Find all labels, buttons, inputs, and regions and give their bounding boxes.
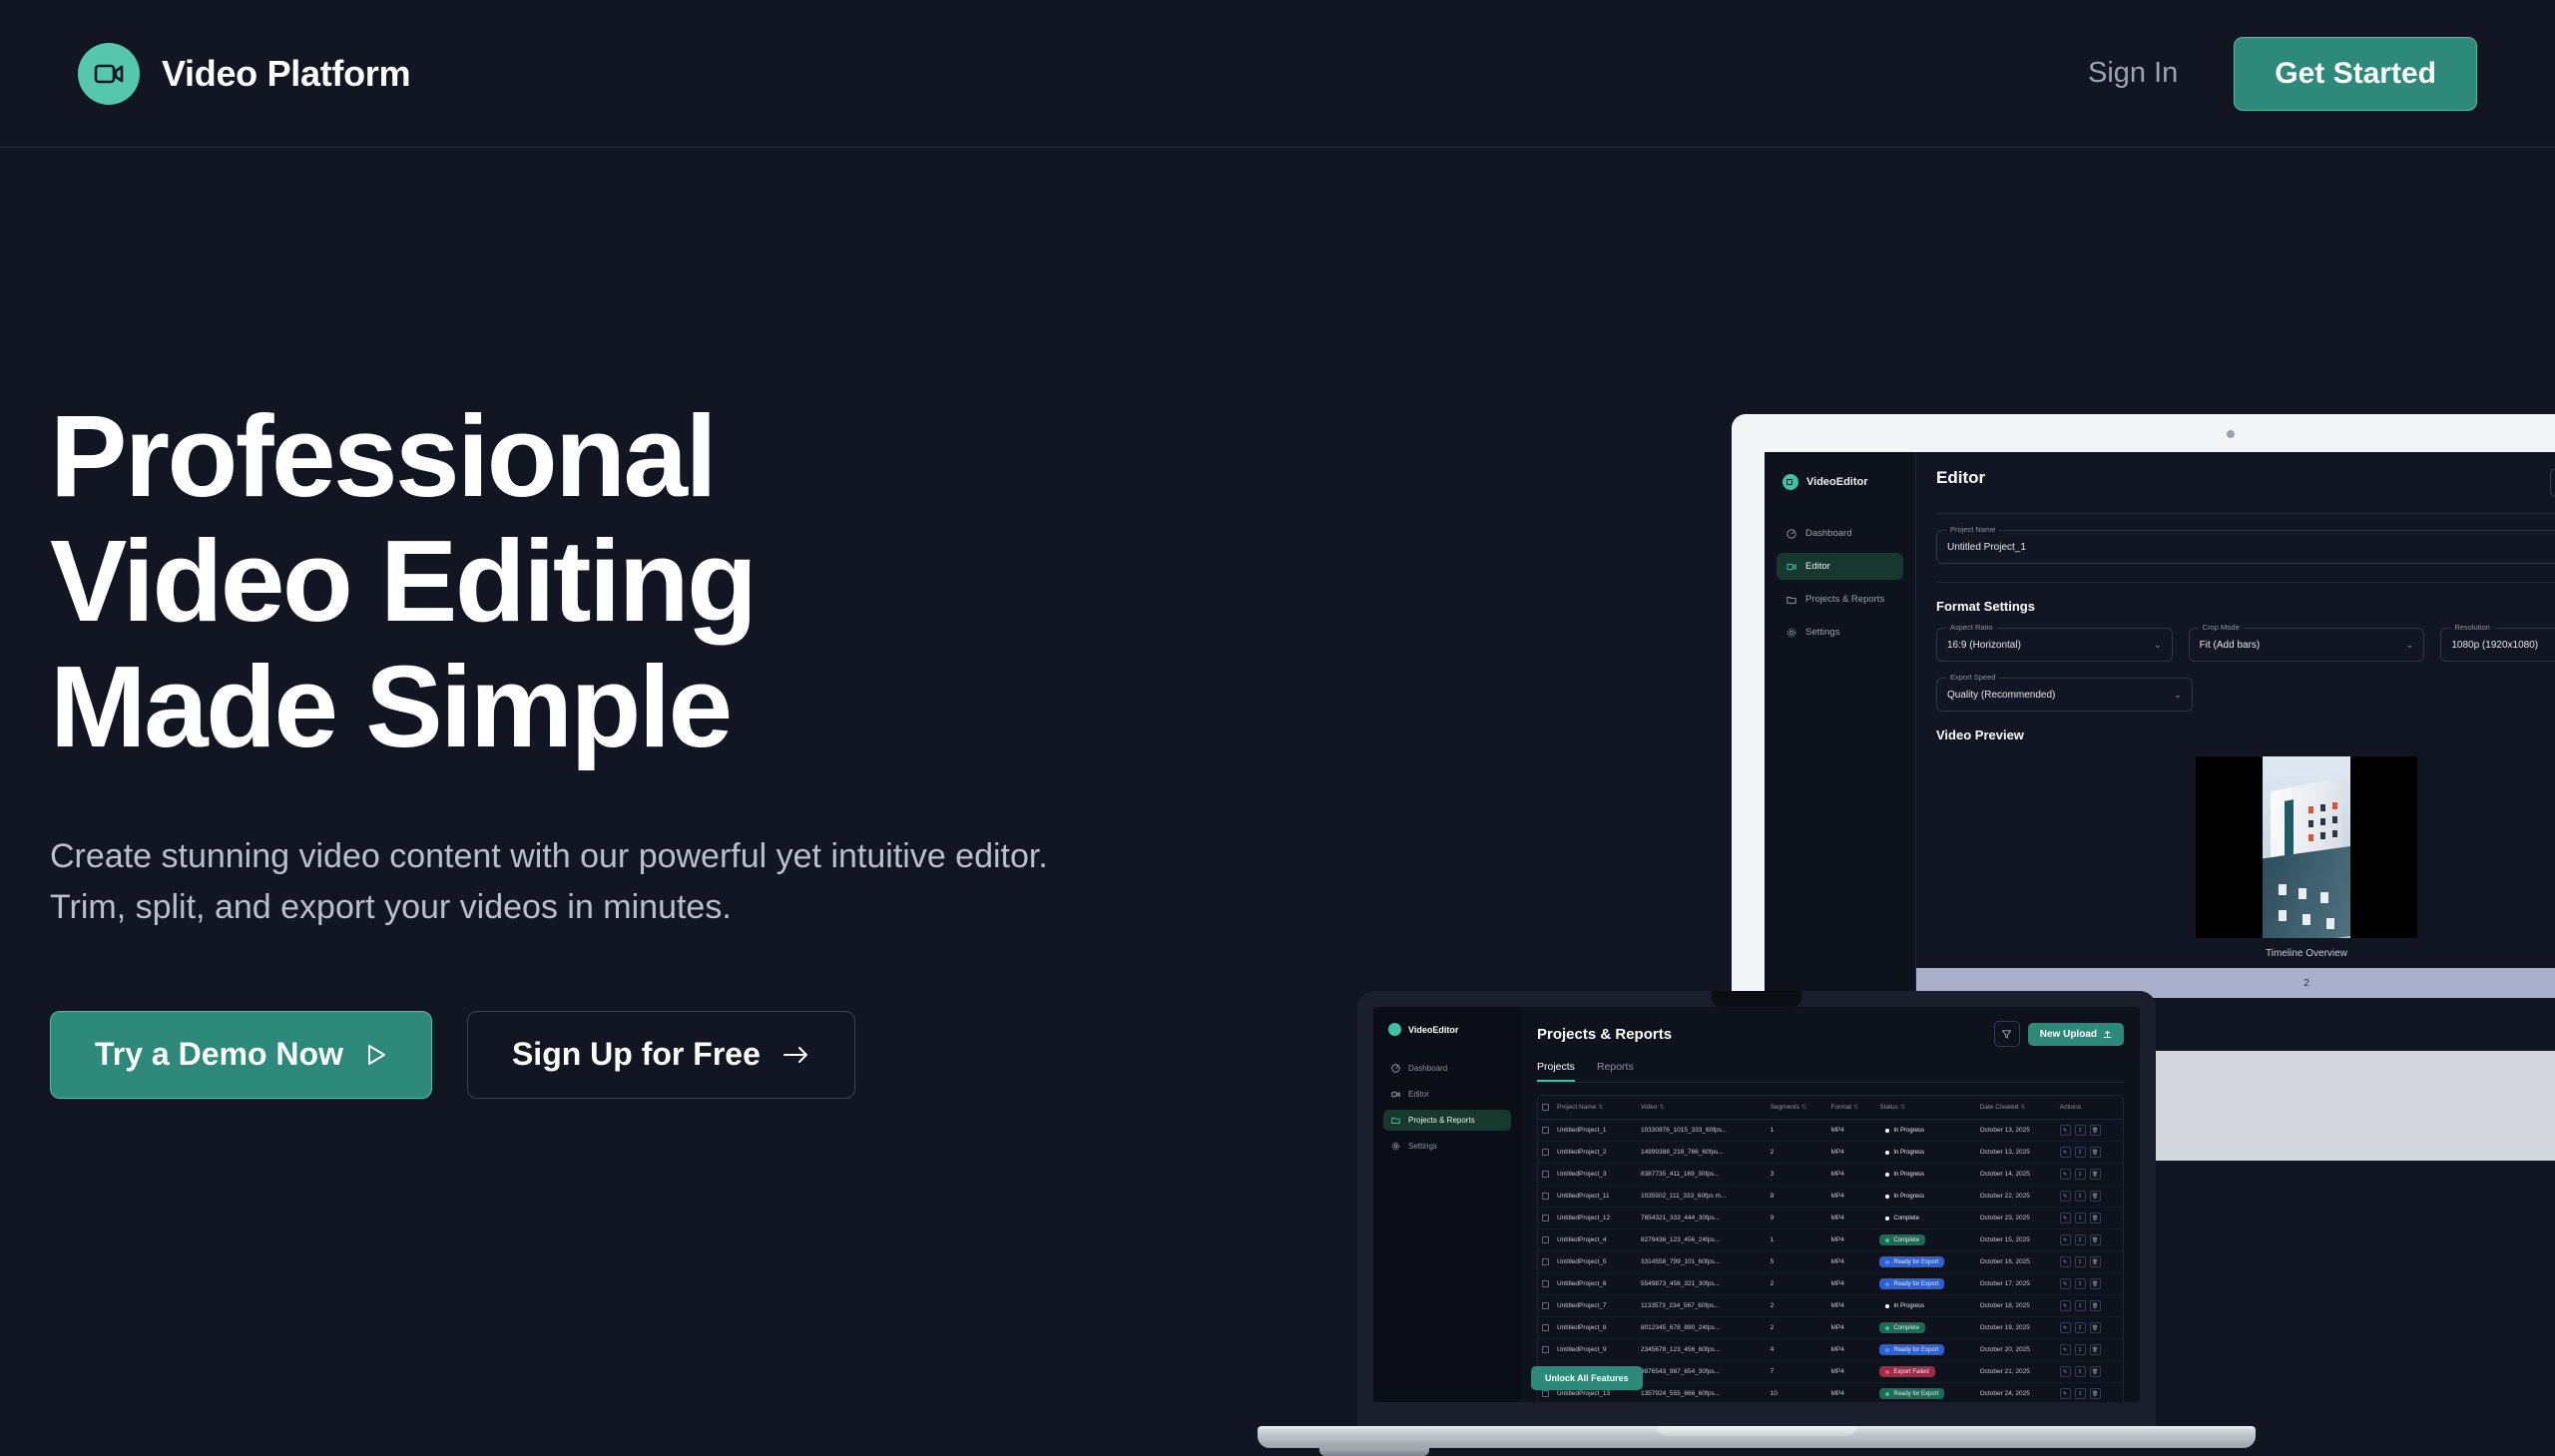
editor-nav: Dashboard Editor Projects & Reports	[1777, 520, 1903, 646]
tab-reports[interactable]: Reports	[1597, 1061, 1634, 1082]
row-checkbox[interactable]	[1538, 1295, 1553, 1317]
tab-projects[interactable]: Projects	[1537, 1061, 1575, 1082]
try-demo-button[interactable]: Try a Demo Now	[50, 1011, 432, 1099]
delete-icon[interactable]: 🗑	[2090, 1213, 2101, 1223]
filter-icon[interactable]	[1994, 1021, 2020, 1047]
status-badge: In Progress	[1879, 1169, 1930, 1180]
cell-segments: 10	[1767, 1383, 1827, 1403]
status-badge: Ready for Export	[1879, 1256, 1944, 1267]
sidebar-label-settings: Settings	[1408, 1142, 1437, 1151]
sidebar-item-editor[interactable]: Editor	[1383, 1084, 1511, 1105]
cell-video: 8012345_678_890_24fps...	[1637, 1317, 1767, 1339]
table-row[interactable]: UntitledProject_71133573_234_567_60fps..…	[1538, 1295, 2123, 1317]
header-nav: Sign In Get Started	[2088, 37, 2477, 111]
cell-project-name: UntitledProject_2	[1553, 1142, 1637, 1164]
projects-tabs: Projects Reports	[1537, 1061, 2124, 1083]
cell-segments: 5	[1767, 1251, 1827, 1273]
cell-date-created: October 15, 2025	[1976, 1229, 2056, 1251]
status-label: Ready for Export	[1893, 1347, 1938, 1353]
edit-icon[interactable]: ✎	[2060, 1388, 2071, 1399]
cell-segments: 2	[1767, 1317, 1827, 1339]
cell-project-name: UntitledProject_7	[1553, 1295, 1637, 1317]
col-label: Project Name	[1557, 1104, 1596, 1111]
projects-header-actions: New Upload	[1994, 1021, 2124, 1047]
status-badge: In Progress	[1879, 1191, 1930, 1202]
cell-project-name: UntitledProject_8	[1553, 1317, 1637, 1339]
edit-icon[interactable]: ✎	[2060, 1147, 2071, 1158]
sort-icon: ⇅	[1801, 1105, 1806, 1111]
cell-date-created: October 21, 2025	[1976, 1361, 2056, 1383]
sidebar-label-projects: Projects & Reports	[1408, 1116, 1475, 1125]
cell-segments: 2	[1767, 1273, 1827, 1295]
cell-video: 5549873_456_321_30fps...	[1637, 1273, 1767, 1295]
status-label: In Progress	[1893, 1150, 1924, 1156]
cell-segments: 7	[1767, 1361, 1827, 1383]
hero-subtitle: Create stunning video content with our p…	[50, 831, 1118, 933]
sidebar-item-dashboard[interactable]: Dashboard	[1777, 520, 1903, 547]
download-icon[interactable]: ↧	[2075, 1147, 2086, 1158]
download-icon[interactable]: ↧	[2075, 1366, 2086, 1377]
chevron-down-icon: ⌄	[2406, 640, 2414, 651]
cell-actions: ✎↧🗑	[2056, 1229, 2123, 1251]
cell-format: MP4	[1826, 1186, 1875, 1208]
edit-icon[interactable]: ✎	[2060, 1300, 2071, 1311]
editor-brand: VideoEditor	[1777, 474, 1903, 490]
row-checkbox[interactable]	[1538, 1142, 1553, 1164]
sort-icon: ⇅	[1659, 1105, 1664, 1111]
row-checkbox[interactable]	[1538, 1229, 1553, 1251]
sidebar-item-settings[interactable]: Settings	[1777, 619, 1903, 646]
brand-name: Video Platform	[162, 53, 410, 95]
laptop-mockup: VideoEditor Dashboard Editor Projects & …	[1357, 991, 2156, 1448]
upload-icon	[2103, 1030, 2112, 1039]
cell-format: MP4	[1826, 1120, 1875, 1142]
cell-format: MP4	[1826, 1208, 1875, 1229]
col-format[interactable]: Format⇅	[1826, 1096, 1875, 1120]
table-row[interactable]: UntitledProject_111035502_111_333_60fps …	[1538, 1186, 2123, 1208]
table-row[interactable]: UntitledProject_38387735_411_169_30fps..…	[1538, 1164, 2123, 1186]
row-checkbox[interactable]	[1538, 1120, 1553, 1142]
row-checkbox[interactable]	[1538, 1208, 1553, 1229]
status-badge: In Progress	[1879, 1300, 1930, 1311]
delete-icon[interactable]: 🗑	[2090, 1388, 2101, 1399]
table-row[interactable]: UntitledProject_88012345_678_890_24fps..…	[1538, 1317, 2123, 1339]
cell-project-name: UntitledProject_9	[1553, 1339, 1637, 1361]
col-status[interactable]: Status⇅	[1875, 1096, 1975, 1120]
projects-table: Project Name⇅ Video⇅ Segments⇅ Format⇅ S…	[1537, 1095, 2124, 1402]
hero-section: Professional Video Editing Made Simple C…	[50, 394, 1168, 1099]
editor-divider-mid	[1936, 582, 2555, 583]
delete-icon[interactable]: 🗑	[2090, 1322, 2101, 1333]
cell-status: Ready for Export	[1875, 1383, 1975, 1403]
delete-icon[interactable]: 🗑	[2090, 1147, 2101, 1158]
download-icon[interactable]: ↧	[2075, 1300, 2086, 1311]
cell-status: Ready for Export	[1875, 1251, 1975, 1273]
sign-up-label: Sign Up for Free	[512, 1036, 761, 1073]
cell-video: 1035502_111_333_60fps m...	[1637, 1186, 1767, 1208]
cell-date-created: October 18, 2025	[1976, 1295, 2056, 1317]
cell-actions: ✎↧🗑	[2056, 1273, 2123, 1295]
monitor-bezel: VideoEditor Dashboard Editor	[1732, 414, 2555, 1051]
chevron-down-icon: ⌄	[2154, 640, 2162, 651]
cell-date-created: October 23, 2025	[1976, 1208, 2056, 1229]
download-icon[interactable]: ↧	[2075, 1322, 2086, 1333]
laptop-base	[1258, 1426, 2256, 1448]
delete-icon[interactable]: 🗑	[2090, 1278, 2101, 1289]
cell-actions: ✎↧🗑	[2056, 1317, 2123, 1339]
aspect-ratio-label: Aspect Ratio	[1946, 623, 1997, 632]
col-label: Date Created	[1980, 1104, 2019, 1111]
cell-video: 1133573_234_567_60fps...	[1637, 1295, 1767, 1317]
cell-actions: ✎↧🗑	[2056, 1361, 2123, 1383]
delete-icon[interactable]: 🗑	[2090, 1169, 2101, 1180]
cell-segments: 3	[1767, 1164, 1827, 1186]
cell-video: 8387735_411_169_30fps...	[1637, 1164, 1767, 1186]
cell-format: MP4	[1826, 1339, 1875, 1361]
folder-icon	[1787, 595, 1796, 605]
projects-sidebar: VideoEditor Dashboard Editor Projects & …	[1373, 1007, 1521, 1402]
sign-up-button[interactable]: Sign Up for Free	[467, 1011, 855, 1099]
folder-icon	[1391, 1116, 1400, 1125]
cell-video: 10330976_1015_333_60fps...	[1637, 1120, 1767, 1142]
edit-icon[interactable]: ✎	[2060, 1256, 2071, 1267]
export-speed-label: Export Speed	[1946, 673, 1999, 682]
sort-icon: ⇅	[1900, 1105, 1905, 1111]
edit-icon[interactable]: ✎	[2060, 1344, 2071, 1355]
aspect-ratio-select[interactable]: Aspect Ratio 16:9 (Horizontal) ⌄	[1936, 628, 2173, 662]
cell-status: In Progress	[1875, 1142, 1975, 1164]
laptop-foot	[1319, 1448, 1429, 1456]
edit-icon[interactable]: ✎	[2060, 1169, 2071, 1180]
row-checkbox[interactable]	[1538, 1317, 1553, 1339]
laptop-camera-notch	[1712, 991, 1801, 1007]
cell-date-created: October 13, 2025	[1976, 1120, 2056, 1142]
monitor-screen: VideoEditor Dashboard Editor	[1765, 452, 2555, 1051]
delete-icon[interactable]: 🗑	[2090, 1256, 2101, 1267]
edit-icon[interactable]: ✎	[2060, 1234, 2071, 1245]
resolution-label: Resolution	[2450, 623, 2493, 632]
projects-main: Projects & Reports New Upload	[1521, 1007, 2140, 1402]
cell-video: 7654321_333_444_30fps...	[1637, 1208, 1767, 1229]
cell-status: In Progress	[1875, 1120, 1975, 1142]
row-checkbox[interactable]	[1538, 1251, 1553, 1273]
table-row[interactable]: UntitledProject_92345678_123_456_60fps..…	[1538, 1339, 2123, 1361]
project-name-value: Untitled Project_1	[1947, 542, 2026, 553]
table-row[interactable]: UntitledProject_110330976_1015_333_60fps…	[1538, 1120, 2123, 1142]
sidebar-label-settings: Settings	[1805, 627, 1839, 638]
sign-in-link[interactable]: Sign In	[2088, 57, 2178, 90]
status-label: In Progress	[1893, 1303, 1924, 1309]
delete-icon[interactable]: 🗑	[2090, 1366, 2101, 1377]
delete-icon[interactable]: 🗑	[2090, 1234, 2101, 1245]
format-row-1: Aspect Ratio 16:9 (Horizontal) ⌄ Crop Mo…	[1936, 628, 2555, 662]
heading-line-1: Professional	[50, 394, 1168, 519]
cell-project-name: UntitledProject_5	[1553, 1251, 1637, 1273]
col-label: Status	[1879, 1104, 1897, 1111]
gear-icon	[1787, 628, 1796, 638]
video-camera-icon	[1388, 1023, 1401, 1036]
col-date-created[interactable]: Date Created⇅	[1976, 1096, 2056, 1120]
download-icon[interactable]: ↧	[2075, 1191, 2086, 1202]
play-icon	[365, 1043, 387, 1067]
laptop-lip	[1657, 1426, 1856, 1436]
cell-video: 2345678_123_456_60fps...	[1637, 1339, 1767, 1361]
cell-date-created: October 22, 2025	[1976, 1186, 2056, 1208]
edit-icon[interactable]: ✎	[2060, 1322, 2071, 1333]
download-icon[interactable]: ↧	[2075, 1234, 2086, 1245]
status-badge: In Progress	[1879, 1125, 1930, 1136]
export-speed-value: Quality (Recommended)	[1947, 690, 2055, 701]
delete-icon[interactable]: 🗑	[2090, 1125, 2101, 1136]
cell-actions: ✎↧🗑	[2056, 1142, 2123, 1164]
cell-format: MP4	[1826, 1142, 1875, 1164]
cell-format: MP4	[1826, 1317, 1875, 1339]
edit-icon[interactable]: ✎	[2060, 1191, 2071, 1202]
sort-icon: ⇅	[2020, 1105, 2025, 1111]
cell-status: Complete	[1875, 1229, 1975, 1251]
project-name-field[interactable]: Project Name Untitled Project_1	[1936, 530, 2555, 564]
edit-icon[interactable]: ✎	[2060, 1125, 2071, 1136]
cell-actions: ✎↧🗑	[2056, 1339, 2123, 1361]
cell-segments: 4	[1767, 1339, 1827, 1361]
editor-topbar: Editor Save Exp	[1936, 468, 2555, 497]
row-checkbox[interactable]	[1538, 1273, 1553, 1295]
chevron-down-icon: ⌄	[2174, 690, 2182, 701]
new-upload-button[interactable]: New Upload	[2028, 1023, 2124, 1046]
cell-date-created: October 16, 2025	[1976, 1251, 2056, 1273]
status-label: In Progress	[1893, 1172, 1924, 1178]
crop-mode-label: Crop Mode	[2199, 623, 2244, 632]
status-badge: Ready for Export	[1879, 1278, 1944, 1289]
new-upload-label: New Upload	[2040, 1029, 2097, 1040]
video-camera-icon	[1391, 1090, 1400, 1099]
cell-format: MP4	[1826, 1383, 1875, 1403]
resolution-value: 1080p (1920x1080)	[2451, 640, 2538, 651]
download-icon[interactable]: ↧	[2075, 1278, 2086, 1289]
cell-status: In Progress	[1875, 1164, 1975, 1186]
video-preview-frame	[2196, 756, 2417, 938]
projects-page-title: Projects & Reports	[1537, 1026, 1672, 1043]
col-label: Actions	[2060, 1104, 2081, 1111]
crop-mode-select[interactable]: Crop Mode Fit (Add bars) ⌄	[2189, 628, 2425, 662]
table-body: UntitledProject_110330976_1015_333_60fps…	[1538, 1120, 2123, 1403]
status-label: Ready for Export	[1893, 1281, 1938, 1287]
cell-actions: ✎↧🗑	[2056, 1208, 2123, 1229]
status-label: In Progress	[1893, 1128, 1924, 1134]
col-label: Segments	[1771, 1104, 1799, 1111]
gear-icon	[1391, 1142, 1400, 1151]
col-segments[interactable]: Segments⇅	[1767, 1096, 1827, 1120]
sidebar-label-editor: Editor	[1805, 561, 1830, 572]
unlock-all-features-button[interactable]: Unlock All Features	[1531, 1366, 1643, 1390]
cell-status: Ready for Export	[1875, 1273, 1975, 1295]
aspect-ratio-value: 16:9 (Horizontal)	[1947, 640, 2021, 651]
cell-actions: ✎↧🗑	[2056, 1251, 2123, 1273]
cell-status: Complete	[1875, 1208, 1975, 1229]
projects-header: Projects & Reports New Upload	[1537, 1021, 2124, 1047]
cell-format: MP4	[1826, 1273, 1875, 1295]
cell-date-created: October 19, 2025	[1976, 1317, 2056, 1339]
cell-status: Export Failed	[1875, 1361, 1975, 1383]
editor-sidebar: VideoEditor Dashboard Editor	[1765, 452, 1916, 1051]
speedometer-icon	[1787, 529, 1796, 539]
table-row[interactable]: UntitledProject_48279436_123_456_24fps..…	[1538, 1229, 2123, 1251]
cell-actions: ✎↧🗑	[2056, 1186, 2123, 1208]
status-badge: Export Failed	[1879, 1366, 1934, 1377]
arrow-right-icon	[782, 1045, 810, 1065]
cell-format: MP4	[1826, 1164, 1875, 1186]
cell-date-created: October 20, 2025	[1976, 1339, 2056, 1361]
laptop-chin	[1357, 1402, 2156, 1426]
cell-video: 9876543_987_654_30fps...	[1637, 1361, 1767, 1383]
sort-icon: ⇅	[1598, 1105, 1603, 1111]
download-icon[interactable]: ↧	[2075, 1256, 2086, 1267]
cell-segments: 9	[1767, 1208, 1827, 1229]
sidebar-item-projects[interactable]: Projects & Reports	[1383, 1110, 1511, 1131]
sidebar-label-projects: Projects & Reports	[1805, 594, 1884, 605]
edit-icon[interactable]: ✎	[2060, 1213, 2071, 1223]
status-label: Complete	[1893, 1237, 1919, 1243]
format-settings-title: Format Settings	[1936, 599, 2555, 614]
cell-project-name: UntitledProject_1	[1553, 1120, 1637, 1142]
status-badge: Complete	[1879, 1234, 1925, 1245]
sidebar-item-dashboard[interactable]: Dashboard	[1383, 1058, 1511, 1079]
select-all-checkbox-header[interactable]	[1538, 1096, 1553, 1120]
edit-icon[interactable]: ✎	[2060, 1278, 2071, 1289]
video-camera-icon	[78, 43, 140, 105]
editor-main: Editor Save Exp Pr	[1916, 452, 2555, 1051]
status-label: Ready for Export	[1893, 1259, 1938, 1265]
status-label: Complete	[1893, 1215, 1919, 1221]
download-icon[interactable]: ↧	[2075, 1213, 2086, 1223]
status-badge: Ready for Export	[1879, 1344, 1944, 1355]
project-name-label: Project Name	[1946, 525, 1999, 534]
projects-brand: VideoEditor	[1383, 1023, 1511, 1036]
sidebar-item-editor[interactable]: Editor	[1777, 553, 1903, 580]
table-row[interactable]: UntitledProject_53314558_799_101_60fps..…	[1538, 1251, 2123, 1273]
cell-status: In Progress	[1875, 1186, 1975, 1208]
col-label: Format	[1830, 1104, 1851, 1111]
editor-actions: Save Exp	[2550, 468, 2555, 497]
row-checkbox[interactable]	[1538, 1339, 1553, 1361]
status-badge: Ready for Export	[1879, 1388, 1944, 1399]
cell-segments: 2	[1767, 1295, 1827, 1317]
cell-actions: ✎↧🗑	[2056, 1383, 2123, 1403]
cell-format: MP4	[1826, 1361, 1875, 1383]
delete-icon[interactable]: 🗑	[2090, 1300, 2101, 1311]
download-icon[interactable]: ↧	[2075, 1388, 2086, 1399]
cell-status: Complete	[1875, 1317, 1975, 1339]
laptop-lid: VideoEditor Dashboard Editor Projects & …	[1357, 991, 2156, 1402]
projects-brand-name: VideoEditor	[1408, 1025, 1458, 1035]
video-preview-title: Video Preview	[1936, 728, 2024, 742]
cell-date-created: October 24, 2025	[1976, 1383, 2056, 1403]
cell-project-name: UntitledProject_11	[1553, 1186, 1637, 1208]
cell-date-created: October 13, 2025	[1976, 1142, 2056, 1164]
cell-status: Ready for Export	[1875, 1339, 1975, 1361]
table-row[interactable]: UntitledProject_214999388_218_766_60fps.…	[1538, 1142, 2123, 1164]
status-label: Export Failed	[1893, 1369, 1928, 1375]
resolution-select[interactable]: Resolution 1080p (1920x1080) ⌄	[2440, 628, 2555, 662]
cell-segments: 8	[1767, 1186, 1827, 1208]
status-label: Complete	[1893, 1325, 1919, 1331]
editor-page-title: Editor	[1936, 468, 1985, 488]
row-checkbox[interactable]	[1538, 1164, 1553, 1186]
export-speed-select[interactable]: Export Speed Quality (Recommended) ⌄	[1936, 678, 2193, 712]
cell-segments: 1	[1767, 1120, 1827, 1142]
download-icon[interactable]: ↧	[2075, 1344, 2086, 1355]
timeline-overview-label: Timeline Overview	[1936, 948, 2555, 959]
editor-divider-top	[1936, 513, 2555, 514]
cell-format: MP4	[1826, 1251, 1875, 1273]
cell-video: 14999388_218_766_60fps...	[1637, 1142, 1767, 1164]
cell-status: In Progress	[1875, 1295, 1975, 1317]
cell-project-name: UntitledProject_6	[1553, 1273, 1637, 1295]
download-icon[interactable]: ↧	[2075, 1125, 2086, 1136]
table-header-row: Project Name⇅ Video⇅ Segments⇅ Format⇅ S…	[1538, 1096, 2123, 1120]
delete-icon[interactable]: 🗑	[2090, 1191, 2101, 1202]
row-checkbox[interactable]	[1538, 1186, 1553, 1208]
cell-video: 8279436_123_456_24fps...	[1637, 1229, 1767, 1251]
status-label: Ready for Export	[1893, 1391, 1938, 1397]
sort-icon: ⇅	[1853, 1105, 1858, 1111]
cell-project-name: UntitledProject_12	[1553, 1208, 1637, 1229]
get-started-button[interactable]: Get Started	[2234, 37, 2477, 111]
cell-actions: ✎↧🗑	[2056, 1164, 2123, 1186]
cell-project-name: UntitledProject_4	[1553, 1229, 1637, 1251]
cell-video: 3314558_799_101_60fps...	[1637, 1251, 1767, 1273]
laptop-screen: VideoEditor Dashboard Editor Projects & …	[1373, 1007, 2140, 1402]
cell-segments: 1	[1767, 1229, 1827, 1251]
sidebar-item-projects[interactable]: Projects & Reports	[1777, 586, 1903, 613]
col-actions: Actions	[2056, 1096, 2123, 1120]
col-label: Video	[1641, 1104, 1658, 1111]
cell-video: 1357924_555_666_60fps...	[1637, 1383, 1767, 1403]
download-icon[interactable]: ↧	[2075, 1169, 2086, 1180]
monitor-camera-dot	[2227, 430, 2235, 438]
cell-date-created: October 14, 2025	[1976, 1164, 2056, 1186]
status-badge: Complete	[1879, 1322, 1925, 1333]
save-button[interactable]: Save	[2550, 468, 2555, 497]
brand[interactable]: Video Platform	[78, 43, 410, 105]
sidebar-label-editor: Editor	[1408, 1090, 1429, 1099]
page-title: Professional Video Editing Made Simple	[50, 394, 1168, 769]
cell-segments: 2	[1767, 1142, 1827, 1164]
building-photo	[2263, 756, 2350, 938]
delete-icon[interactable]: 🗑	[2090, 1344, 2101, 1355]
video-camera-icon	[1787, 562, 1796, 572]
video-camera-icon	[1783, 474, 1798, 490]
site-header: Video Platform Sign In Get Started	[0, 0, 2555, 148]
edit-icon[interactable]: ✎	[2060, 1366, 2071, 1377]
status-badge: In Progress	[1879, 1147, 1930, 1158]
try-demo-label: Try a Demo Now	[95, 1036, 343, 1073]
col-project-name[interactable]: Project Name⇅	[1553, 1096, 1637, 1120]
status-label: In Progress	[1893, 1194, 1924, 1200]
table-row[interactable]: UntitledProject_65549873_456_321_30fps..…	[1538, 1273, 2123, 1295]
sidebar-item-settings[interactable]: Settings	[1383, 1136, 1511, 1157]
crop-mode-value: Fit (Add bars)	[2200, 640, 2261, 651]
col-video[interactable]: Video⇅	[1637, 1096, 1767, 1120]
editor-brand-name: VideoEditor	[1806, 476, 1868, 488]
cell-actions: ✎↧🗑	[2056, 1120, 2123, 1142]
cell-format: MP4	[1826, 1295, 1875, 1317]
format-row-2: Export Speed Quality (Recommended) ⌄	[1936, 678, 2555, 712]
table-row[interactable]: UntitledProject_127654321_333_444_30fps.…	[1538, 1208, 2123, 1229]
device-mockups: VideoEditor Dashboard Editor	[1357, 394, 2555, 1222]
status-badge: Complete	[1879, 1213, 1925, 1223]
sidebar-label-dashboard: Dashboard	[1805, 528, 1851, 539]
